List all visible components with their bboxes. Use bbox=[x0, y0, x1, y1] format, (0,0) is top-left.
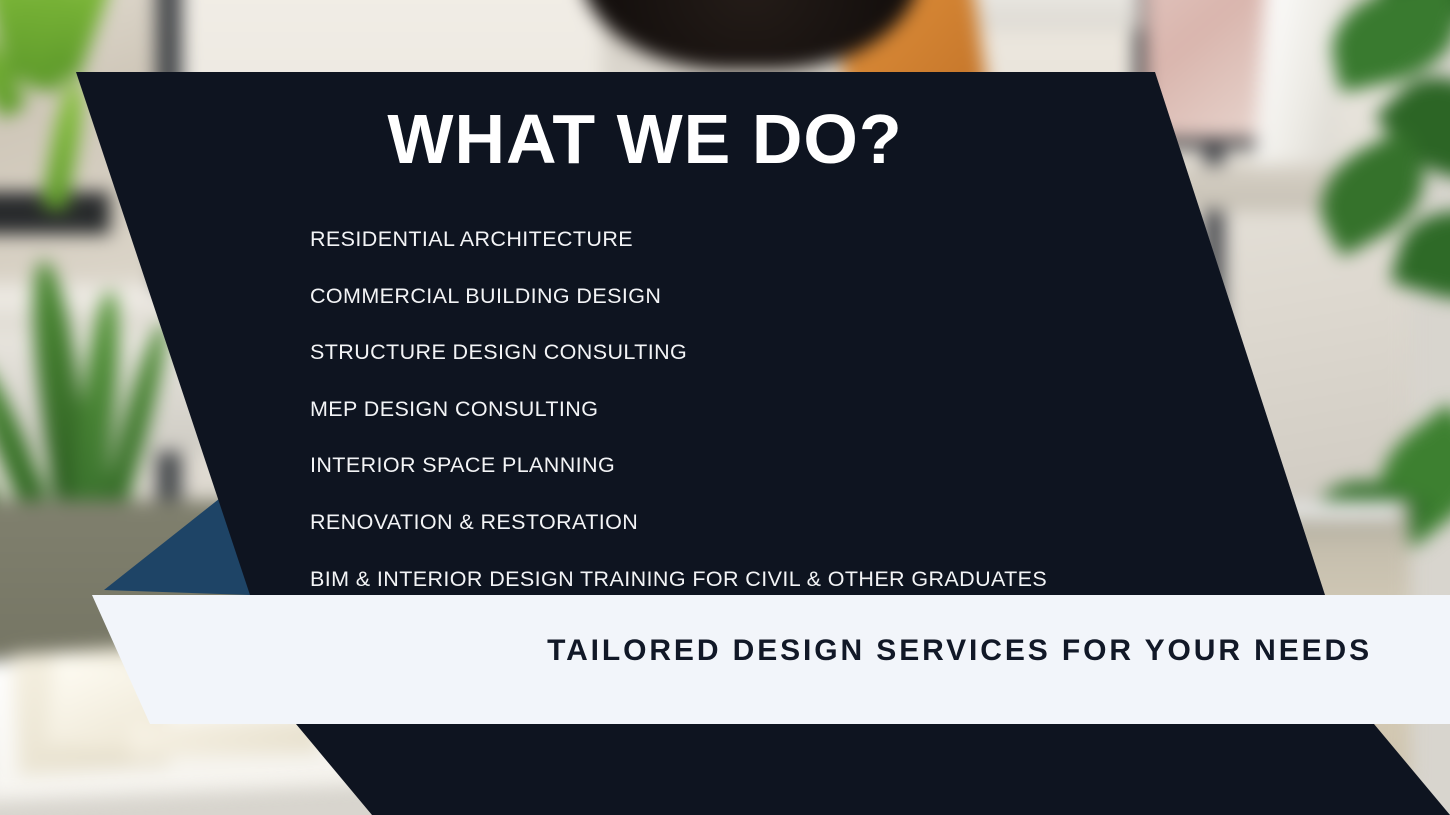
photo-monitor bbox=[970, 0, 1140, 30]
services-list: RESIDENTIAL ARCHITECTURE COMMERCIAL BUIL… bbox=[310, 222, 1047, 618]
list-item: MEP DESIGN CONSULTING bbox=[310, 392, 1047, 449]
list-item: BIM & INTERIOR DESIGN TRAINING FOR CIVIL… bbox=[310, 562, 1047, 619]
list-item: COMMERCIAL BUILDING DESIGN bbox=[310, 279, 1047, 336]
list-item: STRUCTURE DESIGN CONSULTING bbox=[310, 335, 1047, 392]
slide-title: WHAT WE DO? bbox=[0, 104, 1450, 174]
list-item: RESIDENTIAL ARCHITECTURE bbox=[310, 222, 1047, 279]
tagline-text: TAILORED DESIGN SERVICES FOR YOUR NEEDS bbox=[0, 634, 1450, 668]
slide-canvas: WHAT WE DO? RESIDENTIAL ARCHITECTURE COM… bbox=[0, 0, 1450, 815]
list-item: RENOVATION & RESTORATION bbox=[310, 505, 1047, 562]
list-item: INTERIOR SPACE PLANNING bbox=[310, 448, 1047, 505]
